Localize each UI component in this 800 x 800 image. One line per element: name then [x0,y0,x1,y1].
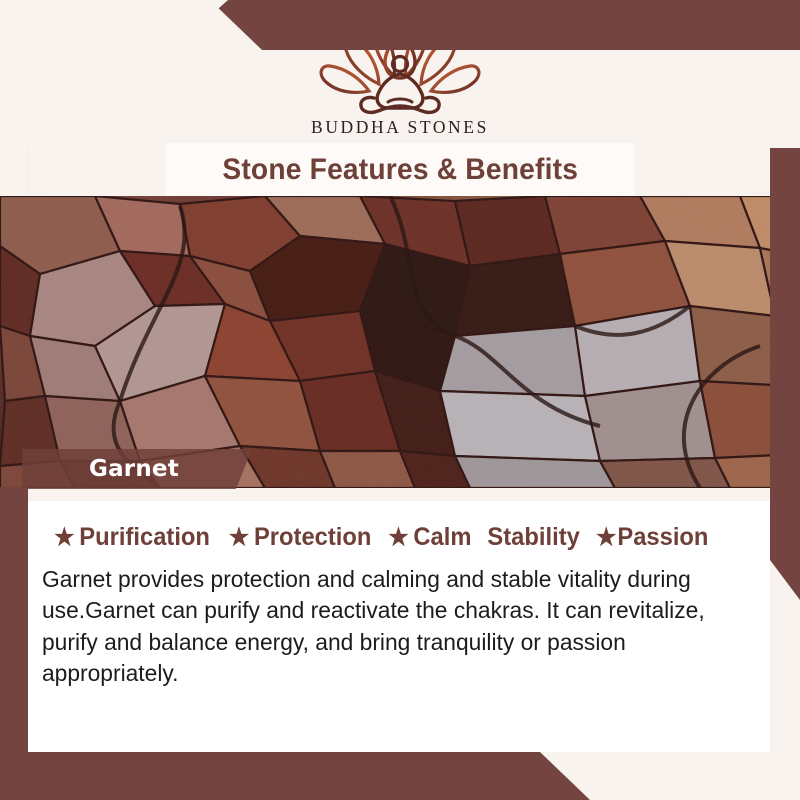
stone-description: Garnet provides protection and calming a… [42,564,727,689]
benefit-label: Passion [617,523,708,552]
page-title: Stone Features & Benefits [222,153,578,187]
benefit-item-calm: ★ Calm [388,523,471,552]
garnet-crystal-photo [0,196,800,488]
hero-image [0,196,800,488]
benefit-label: Purification [79,523,210,552]
benefits-list: ★ Purification ★ Protection ★ Calm ★ Sta… [28,501,770,552]
brand-name: BUDDHA STONES [250,117,550,138]
poster-root: BUDDHA STONES Stone Features & Benefits [0,0,800,800]
benefit-item-stability: ★ Stability [487,523,579,552]
benefit-item-protection: ★ Protection [229,523,372,552]
frame-band-bottom [0,752,800,800]
benefit-item-purification: ★ Purification [54,523,210,552]
benefit-label: Stability [487,523,579,552]
benefit-label: Protection [254,523,371,552]
stone-name-ribbon: Garnet [22,449,252,489]
star-icon: ★ [596,526,616,550]
content-card: ★ Purification ★ Protection ★ Calm ★ Sta… [28,501,770,752]
benefit-item-passion: ★ Passion [596,523,708,552]
section-title-band: Stone Features & Benefits [165,143,635,196]
stone-name: Garnet [89,456,179,482]
benefit-label: Calm [414,523,472,552]
star-icon: ★ [54,526,74,550]
star-icon: ★ [229,526,249,550]
star-icon: ★ [388,526,408,550]
